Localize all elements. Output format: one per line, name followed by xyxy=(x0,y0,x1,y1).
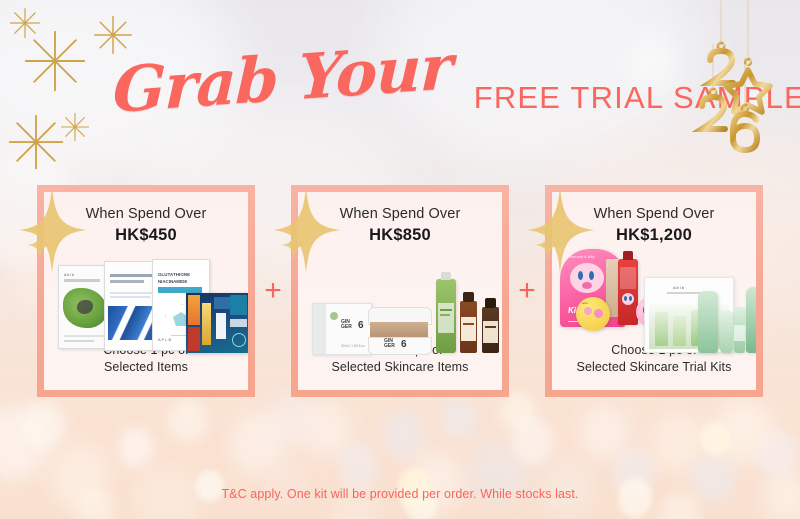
card-product-images: GINGER 6 50ml / 1.69 fl.oz GINGER 6 xyxy=(298,245,502,342)
product-amber-serum-dropper xyxy=(460,301,477,353)
headline-script: Grab Your xyxy=(112,36,453,122)
plus-separator-1: + xyxy=(255,185,291,397)
card-footer-line2: Selected Skincare Items xyxy=(331,360,468,374)
product-ginger6-jar: GINGER 6 xyxy=(368,307,430,353)
headline: Grab Your FREE TRIAL SAMPLE KIT xyxy=(0,46,720,126)
offer-cards-row: When Spend Over HK$450 A b i b xyxy=(0,185,800,397)
promo-banner: Grab Your FREE TRIAL SAMPLE KIT xyxy=(0,0,800,519)
card-product-images: new cool & silky Kirb abib xyxy=(552,245,756,342)
terms-and-conditions-note: T&C apply. One kit will be provided per … xyxy=(0,487,800,501)
product-amber-serum-dropper xyxy=(482,307,499,353)
product-green-tube-set xyxy=(698,285,756,353)
product-kirby-yellow-compact: abib xyxy=(576,297,610,331)
card-footer-line2: Selected Items xyxy=(104,360,188,374)
sparkle-star-icon xyxy=(8,6,42,40)
product-navy-sample-pack xyxy=(186,293,248,353)
year-ornament-2026 xyxy=(688,0,792,160)
product-ginger6-carton: GINGER 6 50ml / 1.69 fl.oz xyxy=(312,303,372,355)
card-inner: When Spend Over HK$450 A b i b xyxy=(44,192,248,390)
card-inner: When Spend Over HK$850 GINGER 6 50ml / 1… xyxy=(298,192,502,390)
plus-symbol: + xyxy=(264,276,282,306)
product-green-toner-bottle xyxy=(436,279,456,353)
offer-card-hk850[interactable]: When Spend Over HK$850 GINGER 6 50ml / 1… xyxy=(291,185,509,397)
card-inner: When Spend Over HK$1,200 new cool & silk… xyxy=(552,192,756,390)
card-amount: HK$450 xyxy=(115,226,177,245)
plus-separator-2: + xyxy=(509,185,545,397)
card-heading: When Spend Over xyxy=(594,206,715,222)
card-heading: When Spend Over xyxy=(86,206,207,222)
offer-card-hk450[interactable]: When Spend Over HK$450 A b i b xyxy=(37,185,255,397)
card-amount: HK$1,200 xyxy=(616,226,692,245)
card-heading: When Spend Over xyxy=(340,206,461,222)
product-kirby-red-tube xyxy=(618,259,638,325)
card-amount: HK$850 xyxy=(369,226,431,245)
plus-symbol: + xyxy=(518,276,536,306)
card-footer-line2: Selected Skincare Trial Kits xyxy=(577,360,732,374)
offer-card-hk1200[interactable]: When Spend Over HK$1,200 new cool & silk… xyxy=(545,185,763,397)
card-product-images: A b i b xyxy=(44,245,248,342)
